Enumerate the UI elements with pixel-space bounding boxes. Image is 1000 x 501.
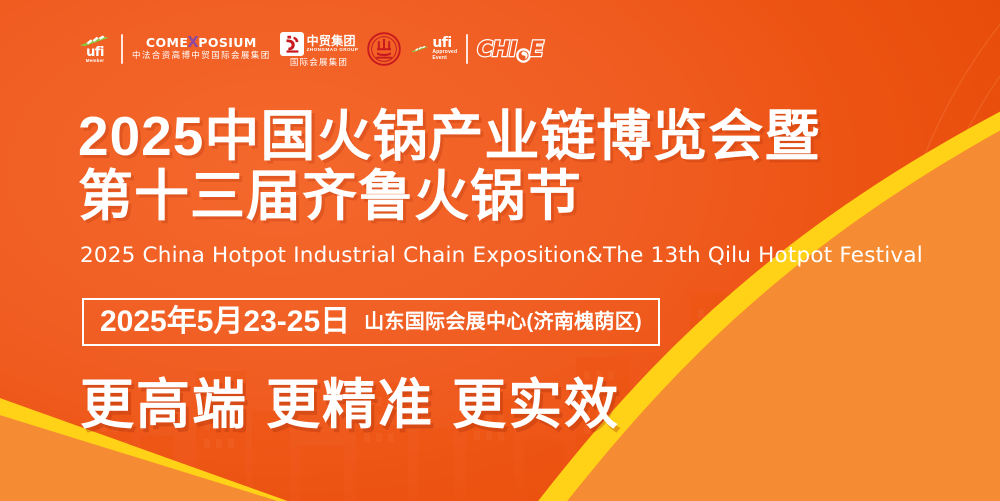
ufi-wheat-icon (410, 42, 430, 56)
ufi-approved-word: ufi (432, 37, 457, 49)
ufi-member-word: ufi (86, 47, 104, 58)
comexposium-name-left: COME (146, 36, 188, 49)
circular-seal-icon (367, 32, 401, 66)
date-venue-box: 2025年5月23-25日 山东国际会展中心(济南槐荫区) (82, 298, 660, 346)
event-date: 2025年5月23-25日 (100, 307, 350, 337)
zhongmao-name-en: ZHONGMAO GROUP (307, 47, 359, 53)
zhongmao-sub-cn: 国际会展集团 (290, 57, 348, 67)
event-venue: 山东国际会展中心(济南槐荫区) (364, 311, 642, 333)
hotpot-icon (516, 44, 531, 59)
logo-divider (466, 34, 468, 64)
logo-comexposium: COME X POSIUM 中法合资高博中贸国际会展集团 (132, 36, 271, 62)
chice-part2: E (530, 37, 544, 61)
logo-ufi-member: ufi Member (78, 35, 112, 64)
slogan-part-3: 更实效 (452, 375, 620, 435)
logo-zhongmao-group: 中贸集团 ZHONGMAO GROUP 国际会展集团 (280, 32, 359, 67)
exhibition-banner: ufi Member COME X POSIUM 中法合资高博中贸国际会展集团 (0, 0, 1000, 501)
chice-part1: CHI (477, 37, 516, 61)
ufi-member-sub: Member (86, 58, 104, 64)
logo-divider (121, 34, 123, 64)
title-line-1: 2025中国火锅产业链博览会暨 (78, 106, 908, 166)
logo-ufi-approved: ufi Approved Event (410, 37, 457, 61)
logo-chice: CHI E (477, 37, 543, 61)
slogan-part-1: 更高端 (80, 375, 248, 435)
event-slogan: 更高端更精准更实效 (80, 374, 620, 436)
title-line-2: 第十三届齐鲁火锅节 (78, 166, 908, 226)
title-english: 2025 China Hotpot Industrial Chain Expos… (80, 243, 923, 268)
ufi-approved-sub2: Event (432, 55, 457, 61)
comexposium-name-cn: 中法合资高博中贸国际会展集团 (132, 51, 271, 62)
slogan-part-2: 更精准 (266, 375, 434, 435)
zhongmao-badge-icon (280, 32, 304, 56)
zhongmao-name-cn: 中贸集团 (307, 35, 359, 47)
logo-shandong-seal (367, 32, 401, 66)
page-title: 2025中国火锅产业链博览会暨 第十三届齐鲁火锅节 (78, 106, 908, 226)
comexposium-name-right: POSIUM (198, 36, 256, 49)
logo-bar: ufi Member COME X POSIUM 中法合资高博中贸国际会展集团 (78, 26, 543, 72)
